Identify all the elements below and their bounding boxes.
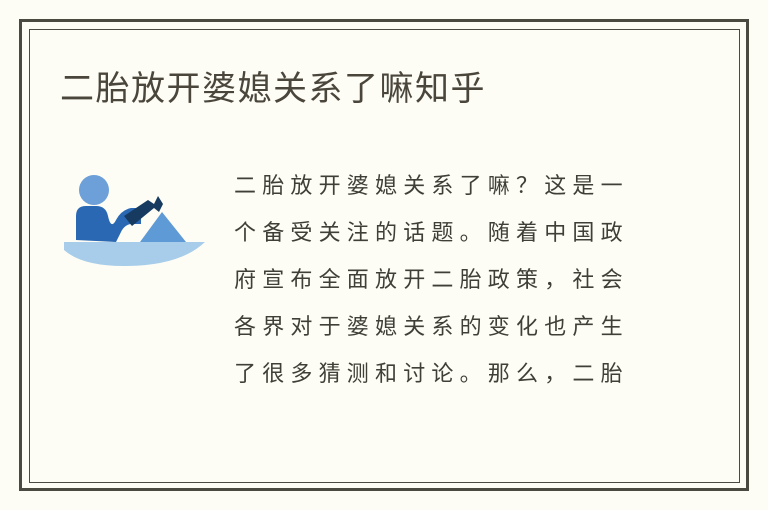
body-line: 个备受关注的话题。随着中国政 [234,210,646,257]
body-line: 府宣布全面放开二胎政策，社会 [234,257,646,304]
boat-hull-icon [64,242,205,266]
body-line: 二胎放开婆媳关系了嘛？这是一 [234,163,646,210]
figure-head-icon [79,175,109,205]
person-rowing-boat-illustration [62,168,207,268]
article-content: 二胎放开婆媳关系了嘛知乎 二胎放开婆媳关系了嘛？这是一 个备受关注的话题。随着中… [0,0,768,510]
article-page: 二胎放开婆媳关系了嘛知乎 二胎放开婆媳关系了嘛？这是一 个备受关注的话题。随着中… [0,0,768,510]
body-line: 各界对于婆媳关系的变化也产生 [234,304,646,351]
article-body: 二胎放开婆媳关系了嘛？这是一 个备受关注的话题。随着中国政 府宣布全面放开二胎政… [234,163,646,398]
page-title: 二胎放开婆媳关系了嘛知乎 [60,68,486,110]
body-line: 了很多猜测和讨论。那么，二胎 [234,351,646,398]
sail-shape-icon [140,212,186,242]
